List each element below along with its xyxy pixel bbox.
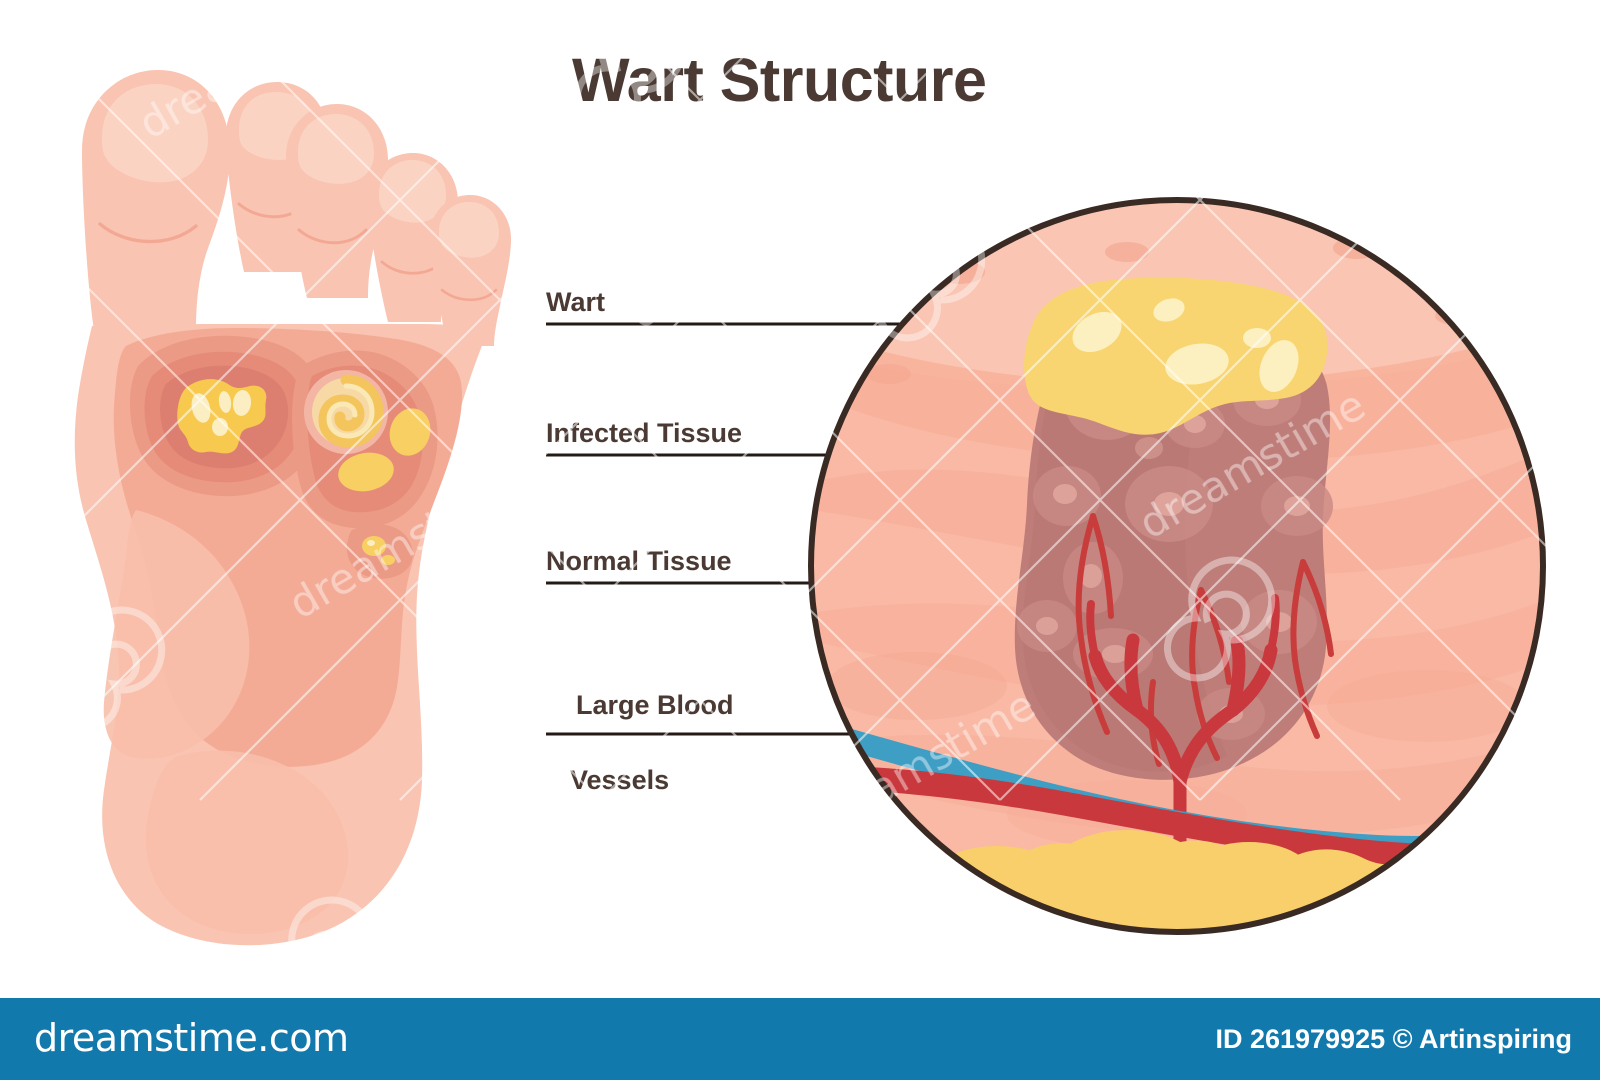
svg-text:dreamstime: dreamstime <box>1251 30 1494 199</box>
page-title: Wart Structure <box>572 48 986 112</box>
toe-little-nail <box>439 202 499 258</box>
image-credit: ID 261979925 © Artinspiring <box>1215 1024 1572 1055</box>
label-normal-tissue: Normal Tissue <box>546 543 732 580</box>
cross-section-circle <box>797 186 1557 946</box>
label-wart: Wart <box>546 284 605 321</box>
label-infected-tissue: Infected Tissue <box>546 415 742 452</box>
lesion-small-spot <box>381 555 395 565</box>
dreamstime-logo: dreamstime.com <box>34 1016 348 1060</box>
dreamstime-logo-text: dreamstime.com <box>34 1016 348 1060</box>
foot-sole-illustration <box>30 40 550 960</box>
skin-pore <box>1105 242 1149 262</box>
lesion-left-spot-d <box>212 418 228 436</box>
label-large-blood-vessels: Large Blood Vessels <box>546 650 734 874</box>
lesion-small-core <box>362 536 386 556</box>
lesion-small-highlight <box>367 540 375 546</box>
skin-pore <box>867 364 911 384</box>
dermis-blob <box>827 652 1007 720</box>
toe-big-nail <box>102 84 208 182</box>
footer-bar: dreamstime.com ID 261979925 © Artinspiri… <box>0 998 1600 1080</box>
label-large-blood-vessels-line2: Vessels <box>546 762 734 799</box>
label-large-blood-vessels-line1: Large Blood <box>576 690 734 720</box>
dermis-blob <box>1327 670 1527 742</box>
toe-fourth-nail <box>379 160 446 223</box>
wart-cap-highlight <box>1243 328 1271 348</box>
toe-third-nail <box>298 114 374 184</box>
illustration-canvas: Wart Structure Wart Infected Tissue Norm… <box>0 0 1600 1080</box>
lesion-right <box>292 351 438 529</box>
